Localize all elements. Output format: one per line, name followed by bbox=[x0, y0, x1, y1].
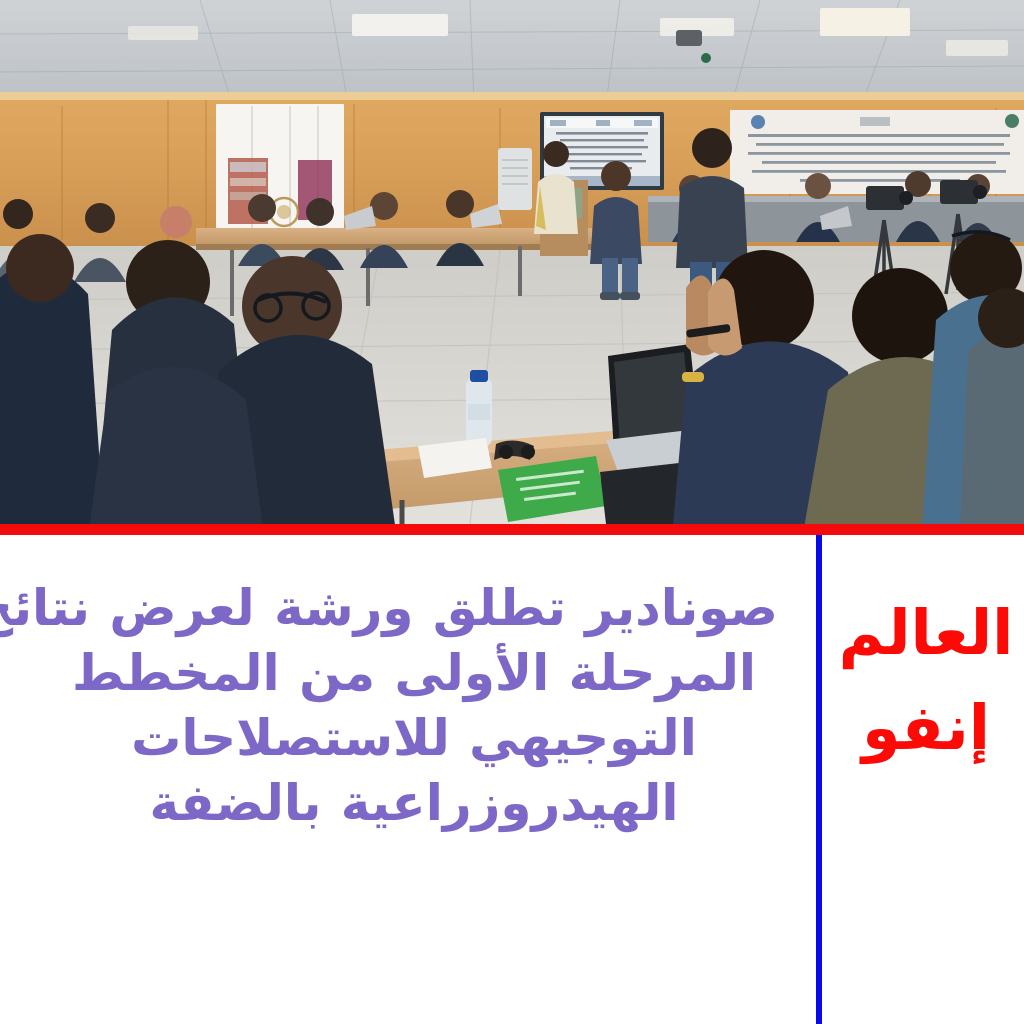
red-divider-bar bbox=[0, 524, 1024, 535]
headline-line-1: صونادير تطلق ورشة لعرض نتائج bbox=[50, 576, 778, 641]
headline-line-4: الهيدروزراعية بالضفة bbox=[50, 771, 778, 836]
conference-photo bbox=[0, 0, 1024, 524]
headline-line-2: المرحلة الأولى من المخطط bbox=[50, 641, 778, 706]
blue-vertical-separator bbox=[816, 535, 822, 1024]
news-card: صونادير تطلق ورشة لعرض نتائج المرحلة الأ… bbox=[0, 0, 1024, 1024]
headline-line-3: التوجيهي للاستصلاحات bbox=[50, 706, 778, 771]
brand-logo: العالم إنفو bbox=[828, 600, 1024, 760]
headline: صونادير تطلق ورشة لعرض نتائج المرحلة الأ… bbox=[40, 576, 802, 836]
brand-line-2: إنفو bbox=[828, 695, 1024, 760]
brand-line-1: العالم bbox=[828, 600, 1024, 665]
